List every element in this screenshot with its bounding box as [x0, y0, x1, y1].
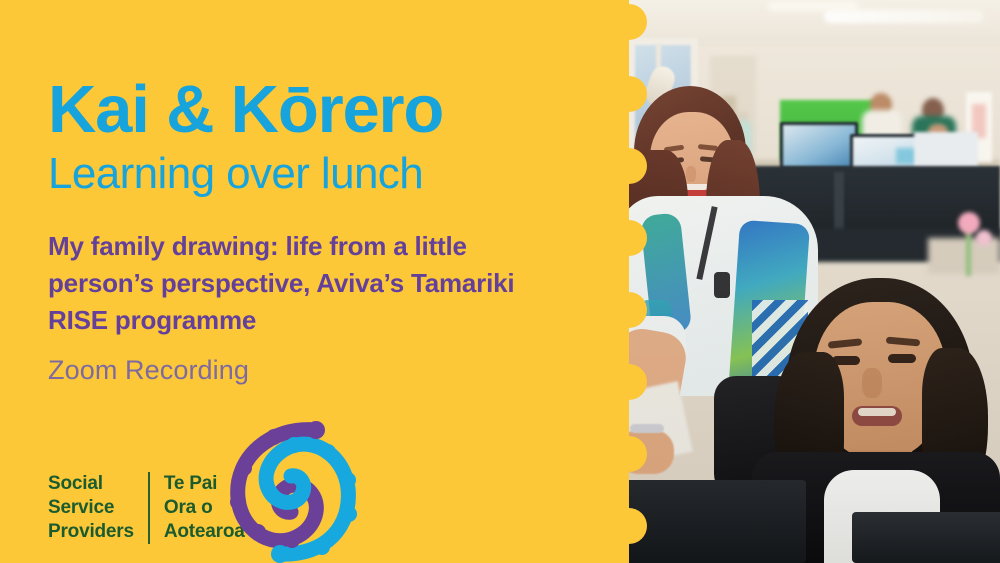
ceiling-light	[824, 10, 984, 23]
seated-woman-teeth	[858, 408, 896, 416]
seated-woman-nose	[862, 368, 882, 398]
page-title: Kai & Kōrero	[48, 76, 443, 143]
scallop-bump	[611, 364, 647, 400]
format-label: Zoom Recording	[48, 355, 249, 386]
logo-line: Providers	[48, 520, 134, 544]
logo-name-english: Social Service Providers	[48, 472, 134, 544]
scallop-bump	[611, 436, 647, 472]
seated-woman-eye-right	[888, 354, 916, 363]
ceiling-light-secondary	[768, 2, 858, 11]
scallop-bump	[611, 292, 647, 328]
scallop-bump	[611, 220, 647, 256]
pink-flower-2	[976, 230, 992, 246]
logo-line: Service	[48, 496, 134, 520]
scallop-bump	[611, 508, 647, 544]
logo-divider	[148, 472, 150, 544]
foreground-monitor-right	[852, 512, 1000, 563]
pink-flower-1	[958, 212, 980, 234]
scallop-bump	[611, 4, 647, 40]
scallop-bump	[611, 76, 647, 112]
session-description: My family drawing: life from a little pe…	[48, 228, 568, 339]
scallop-bump	[611, 148, 647, 184]
koru-double-spiral-icon	[212, 414, 364, 563]
logo-line: Social	[48, 472, 134, 496]
lanyard-badge	[714, 272, 730, 298]
foreground-monitor-left	[628, 480, 806, 563]
wrist-watch	[630, 424, 664, 433]
office-photo	[628, 0, 1000, 563]
standing-woman-nose	[686, 166, 696, 182]
flower-stem	[966, 228, 971, 276]
background-monitor-1-screen	[783, 125, 855, 167]
slide-canvas: Kai & Kōrero Learning over lunch My fami…	[0, 0, 1000, 563]
page-subtitle: Learning over lunch	[48, 152, 423, 196]
